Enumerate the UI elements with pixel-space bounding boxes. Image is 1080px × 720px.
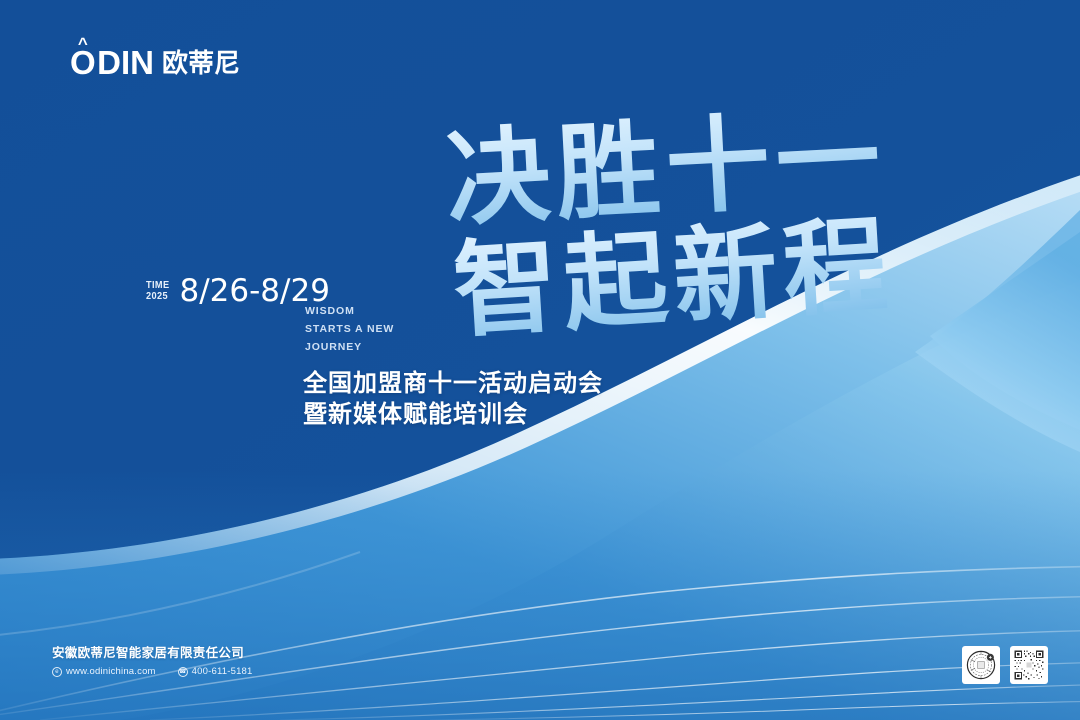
subtitle-line-1: 全国加盟商十一活动启动会 <box>303 368 603 399</box>
hero-line-2: 智起新程 <box>450 203 897 353</box>
qr-code-mini-program[interactable] <box>1010 646 1048 684</box>
logo-latin-text: DIN <box>97 46 154 79</box>
website-url: www.odinichina.com <box>66 666 156 677</box>
globe-icon: e <box>52 667 62 677</box>
event-subtitle: 全国加盟商十一活动启动会 暨新媒体赋能培训会 <box>303 368 603 430</box>
logo-o-mark: ^ O <box>70 46 95 79</box>
square-qr-code-icon <box>1012 648 1046 682</box>
logo-circumflex-icon: ^ <box>78 35 87 52</box>
tagline-line-2: STARTS A NEW <box>305 320 394 338</box>
website-item[interactable]: e www.odinichina.com <box>52 666 156 677</box>
event-date: TIME 2025 8/26-8/29 <box>146 276 330 307</box>
date-label-time: TIME <box>146 280 169 291</box>
phone-number: 400-611-5181 <box>192 666 253 677</box>
phone-item[interactable]: ☎ 400-611-5181 <box>178 666 253 677</box>
footer-contact-row: e www.odinichina.com ☎ 400-611-5181 <box>52 666 253 677</box>
company-name: 安徽欧蒂尼智能家居有限责任公司 <box>52 645 253 661</box>
footer-info: 安徽欧蒂尼智能家居有限责任公司 e www.odinichina.com ☎ 4… <box>52 645 253 677</box>
brand-logo: ^ O DIN 欧蒂尼 <box>70 46 240 79</box>
phone-icon: ☎ <box>178 667 188 677</box>
hero-calligraphy-artwork: 决胜十一 智起新程 <box>438 108 908 340</box>
tagline-line-1: WISDOM <box>305 302 394 320</box>
tagline-line-3: JOURNEY <box>305 338 394 356</box>
qr-code-official-account[interactable] <box>962 646 1000 684</box>
date-label-block: TIME 2025 <box>146 280 169 303</box>
poster-canvas: ^ O DIN 欧蒂尼 决胜十一 智起新程 TIME 2025 8/26-8/2… <box>0 0 1080 720</box>
qr-code-group <box>962 646 1048 684</box>
date-label-year: 2025 <box>146 291 169 302</box>
logo-chinese-text: 欧蒂尼 <box>162 51 240 77</box>
english-tagline: WISDOM STARTS A NEW JOURNEY <box>305 302 394 356</box>
subtitle-line-2: 暨新媒体赋能培训会 <box>303 399 603 430</box>
hero-title: 决胜十一 智起新程 <box>438 108 908 340</box>
round-stamp-code-icon <box>964 648 998 682</box>
